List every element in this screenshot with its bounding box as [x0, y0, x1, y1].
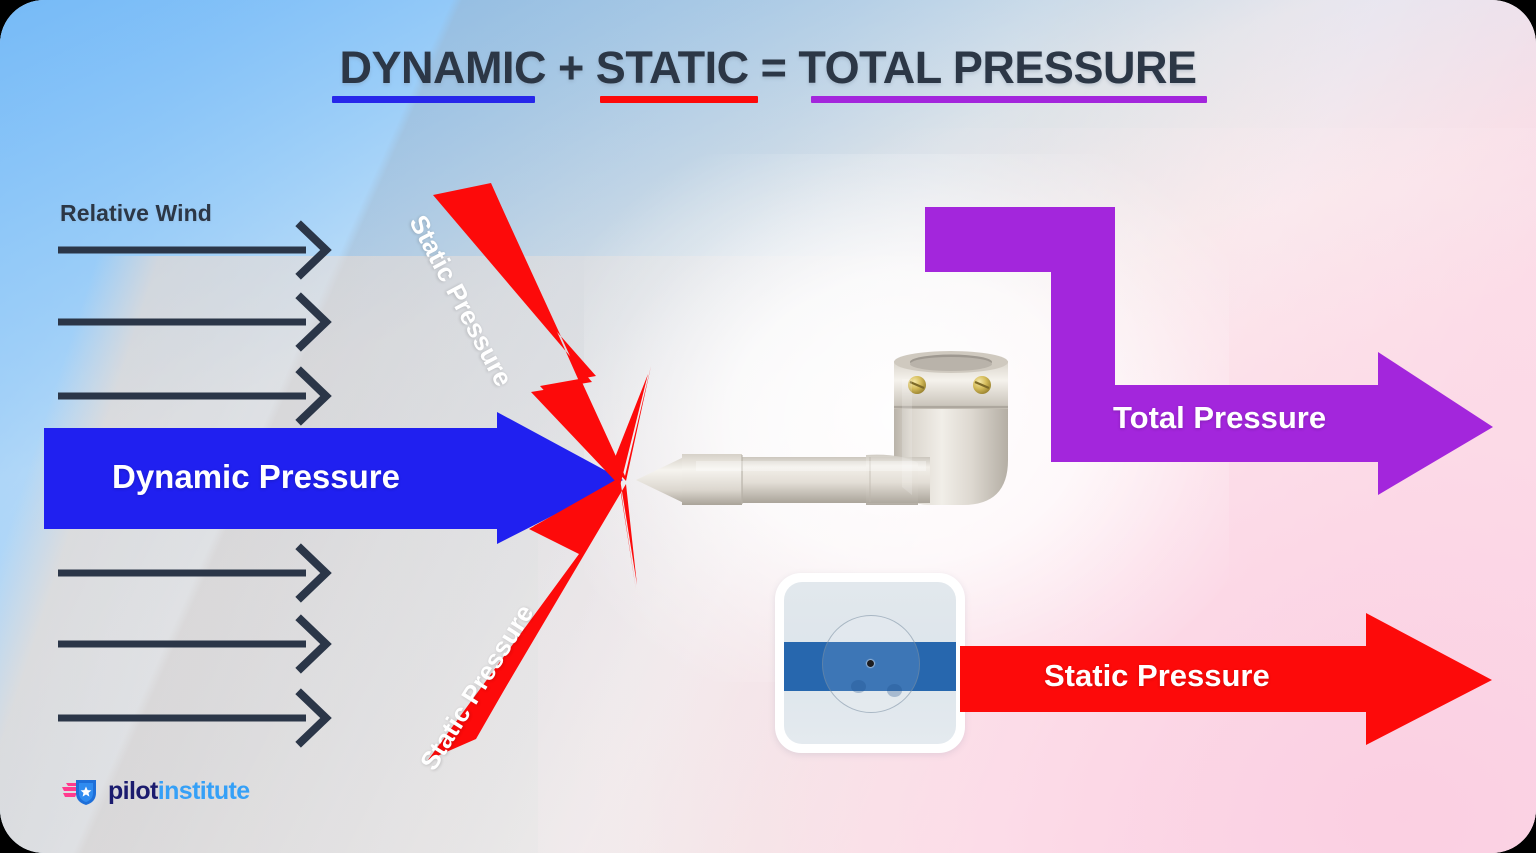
relative-wind-label: Relative Wind — [60, 200, 212, 227]
winged-shield-icon — [62, 776, 100, 806]
page-title-text: DYNAMIC + STATIC = TOTAL PRESSURE — [340, 42, 1197, 94]
static-port-panel — [784, 582, 956, 744]
relative-wind-streamline-1 — [58, 222, 330, 278]
static-port-dimple-1 — [851, 680, 866, 693]
page-title: DYNAMIC + STATIC = TOTAL PRESSURE — [0, 42, 1536, 94]
static-pressure-label-right: Static Pressure — [1044, 658, 1270, 694]
relative-wind-streamline-6 — [58, 690, 330, 746]
logo-wordmark: pilotinstitute — [108, 777, 250, 806]
relative-wind-streamline-5 — [58, 616, 330, 672]
pitot-tube-image — [630, 335, 1030, 515]
logo-word-institute: institute — [158, 777, 250, 805]
static-port-dimple-2 — [887, 684, 902, 697]
infographic-canvas: DYNAMIC + STATIC = TOTAL PRESSURE Relati… — [0, 0, 1536, 853]
relative-wind-streamline-3 — [58, 368, 330, 424]
static-port-image — [775, 573, 965, 753]
relative-wind-streamline-4 — [58, 545, 330, 601]
total-pressure-label: Total Pressure — [1113, 400, 1326, 436]
pilot-institute-logo[interactable]: pilotinstitute — [62, 776, 250, 806]
relative-wind-streamline-2 — [58, 294, 330, 350]
logo-word-pilot: pilot — [108, 777, 158, 805]
dynamic-pressure-label: Dynamic Pressure — [112, 458, 400, 496]
static-port-hole — [867, 660, 874, 667]
